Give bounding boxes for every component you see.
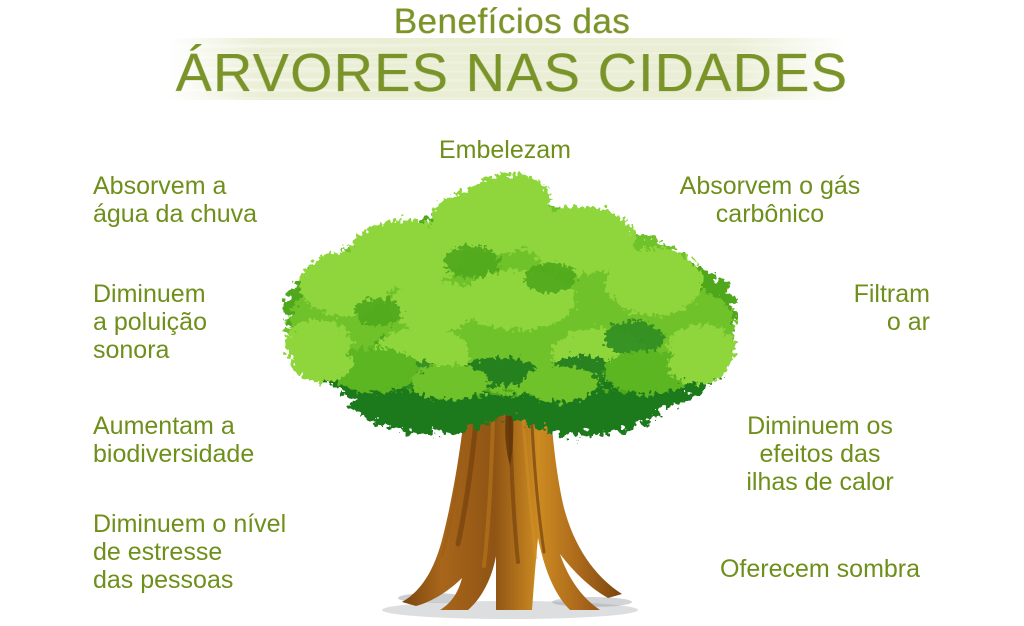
benefit-label-poluicao-sonora: Diminuem a poluição sonora <box>93 280 343 364</box>
benefit-label-embelezam: Embelezam <box>355 136 655 164</box>
benefit-label-ilhas-calor: Diminuem os efeitos das ilhas de calor <box>700 412 940 496</box>
title-line-primary: Benefícios das <box>0 2 1024 42</box>
title-line-secondary: ÁRVORES NAS CIDADES <box>0 42 1024 104</box>
benefit-label-filtram-ar: Filtram o ar <box>690 280 930 336</box>
benefit-label-sombra: Oferecem sombra <box>680 555 960 583</box>
benefit-label-absorvem-agua: Absorvem a água da chuva <box>93 172 353 228</box>
benefit-label-estresse: Diminuem o nível de estresse das pessoas <box>93 510 373 594</box>
infographic-canvas: Benefícios das ÁRVORES NAS CIDADES <box>0 0 1024 626</box>
benefit-label-biodiversidade: Aumentam a biodiversidade <box>93 412 353 468</box>
benefit-label-gas-carbonico: Absorvem o gás carbônico <box>630 172 910 228</box>
title-block: Benefícios das ÁRVORES NAS CIDADES <box>0 0 1024 120</box>
